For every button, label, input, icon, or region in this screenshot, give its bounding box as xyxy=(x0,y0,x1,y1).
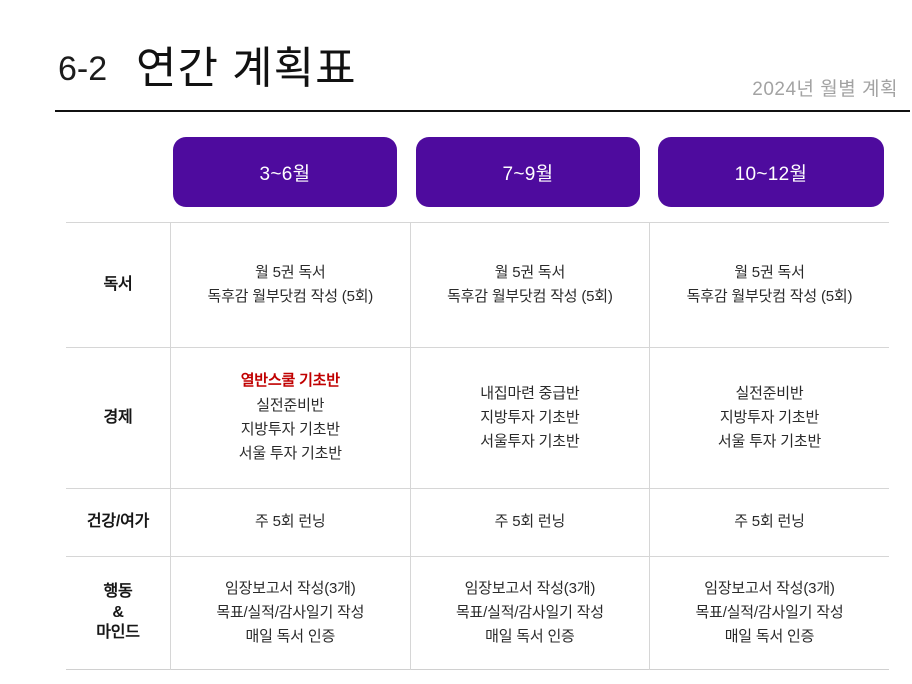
cell-line: 서울 투자 기초반 xyxy=(650,430,889,454)
row-category-label: 건강/여가 xyxy=(66,489,171,557)
cell-line: 내집마련 중급반 xyxy=(411,382,650,406)
cell-line: 임장보고서 작성(3개) xyxy=(411,577,650,601)
row-category-label: 경제 xyxy=(66,348,171,489)
cell-line: 목표/실적/감사일기 작성 xyxy=(650,601,889,625)
cell-line: 지방투자 기초반 xyxy=(171,418,410,442)
cell-line: 주 5회 런닝 xyxy=(411,510,650,534)
title-divider xyxy=(55,110,910,112)
table-row: 경제열반스쿨 기초반실전준비반지방투자 기초반서울 투자 기초반내집마련 중급반… xyxy=(66,348,889,489)
column-header-q2: 7~9월 xyxy=(416,137,640,207)
table-cell: 내집마련 중급반지방투자 기초반서울투자 기초반 xyxy=(410,348,650,489)
slide-canvas: 6-2 연간 계획표 2024년 월별 계획 3~6월 7~9월 10~12월 … xyxy=(0,0,912,684)
page-title: 연간 계획표 xyxy=(136,44,357,95)
table-cell: 주 5회 런닝 xyxy=(171,489,411,557)
cell-line: 임장보고서 작성(3개) xyxy=(650,577,889,601)
cell-line: 독후감 월부닷컴 작성 (5회) xyxy=(411,285,650,309)
column-header-group: 3~6월 7~9월 10~12월 xyxy=(0,137,912,207)
cell-line: 매일 독서 인증 xyxy=(171,625,410,649)
annual-plan-table-body: 독서월 5권 독서독후감 월부닷컴 작성 (5회)월 5권 독서독후감 월부닷컴… xyxy=(66,223,889,670)
table-row: 행동&마인드임장보고서 작성(3개)목표/실적/감사일기 작성매일 독서 인증임… xyxy=(66,557,889,670)
cell-line: 주 5회 런닝 xyxy=(171,510,410,534)
cell-line: 지방투자 기초반 xyxy=(411,406,650,430)
cell-line: 매일 독서 인증 xyxy=(411,625,650,649)
cell-line: 독후감 월부닷컴 작성 (5회) xyxy=(171,285,410,309)
slide-number: 6-2 xyxy=(58,52,107,86)
table-cell: 임장보고서 작성(3개)목표/실적/감사일기 작성매일 독서 인증 xyxy=(171,557,411,670)
cell-line: 독후감 월부닷컴 작성 (5회) xyxy=(650,285,889,309)
column-header-q3: 10~12월 xyxy=(658,137,884,207)
table-cell: 주 5회 런닝 xyxy=(410,489,650,557)
row-category-label: 행동&마인드 xyxy=(66,557,171,670)
cell-line: 서울 투자 기초반 xyxy=(171,442,410,466)
cell-line: 목표/실적/감사일기 작성 xyxy=(411,601,650,625)
annual-plan-table: 독서월 5권 독서독후감 월부닷컴 작성 (5회)월 5권 독서독후감 월부닷컴… xyxy=(66,222,889,670)
cell-line: 지방투자 기초반 xyxy=(650,406,889,430)
cell-line: 임장보고서 작성(3개) xyxy=(171,577,410,601)
slide-header: 6-2 연간 계획표 2024년 월별 계획 xyxy=(0,44,912,106)
cell-line-highlighted: 열반스쿨 기초반 xyxy=(171,369,410,393)
table-cell: 주 5회 런닝 xyxy=(650,489,889,557)
table-row: 독서월 5권 독서독후감 월부닷컴 작성 (5회)월 5권 독서독후감 월부닷컴… xyxy=(66,223,889,348)
cell-line: 월 5권 독서 xyxy=(411,261,650,285)
table-cell: 임장보고서 작성(3개)목표/실적/감사일기 작성매일 독서 인증 xyxy=(650,557,889,670)
table-cell: 월 5권 독서독후감 월부닷컴 작성 (5회) xyxy=(410,223,650,348)
table-cell: 임장보고서 작성(3개)목표/실적/감사일기 작성매일 독서 인증 xyxy=(410,557,650,670)
column-header-q1: 3~6월 xyxy=(173,137,397,207)
cell-line: 월 5권 독서 xyxy=(650,261,889,285)
table-row: 건강/여가주 5회 런닝주 5회 런닝주 5회 런닝 xyxy=(66,489,889,557)
cell-line: 매일 독서 인증 xyxy=(650,625,889,649)
cell-line: 서울투자 기초반 xyxy=(411,430,650,454)
row-category-label: 독서 xyxy=(66,223,171,348)
cell-line: 주 5회 런닝 xyxy=(650,510,889,534)
cell-line: 월 5권 독서 xyxy=(171,261,410,285)
cell-line: 실전준비반 xyxy=(171,394,410,418)
cell-line: 실전준비반 xyxy=(650,382,889,406)
table-cell: 월 5권 독서독후감 월부닷컴 작성 (5회) xyxy=(171,223,411,348)
table-cell: 월 5권 독서독후감 월부닷컴 작성 (5회) xyxy=(650,223,889,348)
cell-line: 목표/실적/감사일기 작성 xyxy=(171,601,410,625)
table-cell: 열반스쿨 기초반실전준비반지방투자 기초반서울 투자 기초반 xyxy=(171,348,411,489)
slide-subtitle: 2024년 월별 계획 xyxy=(752,74,898,101)
table-cell: 실전준비반지방투자 기초반서울 투자 기초반 xyxy=(650,348,889,489)
